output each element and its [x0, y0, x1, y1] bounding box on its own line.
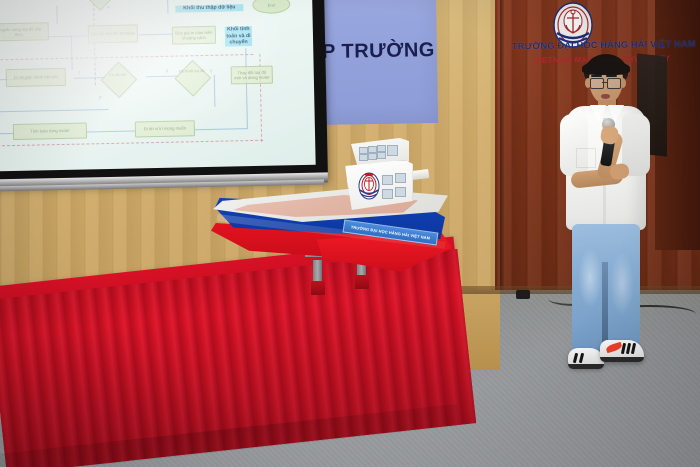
ship-window	[377, 145, 386, 152]
person-hair-fringe	[582, 61, 630, 75]
flowchart-decision-shape	[100, 61, 137, 98]
flow-false-label: F	[166, 69, 169, 74]
projection-screen-surface: Có tín hiệu GPS F Chuyển sang toạ độ tiế…	[0, 0, 316, 172]
ship-window	[395, 187, 406, 197]
presenter-person	[546, 52, 666, 392]
ship-window	[359, 147, 368, 154]
flow-connector	[56, 6, 57, 24]
ship-window	[368, 153, 377, 160]
eyeglasses-bridge-icon	[602, 82, 607, 83]
flow-region-boundary	[0, 140, 263, 147]
flow-true-label: T	[78, 71, 81, 76]
jeans-fade-right	[610, 252, 634, 316]
ship-model: TRƯỜNG ĐẠI HỌC HÀNG HẢI VIỆT NAM	[205, 150, 470, 290]
ship-emblem-icon	[357, 171, 381, 201]
flow-true-label: T	[210, 69, 213, 74]
floor-connector	[516, 290, 530, 299]
flow-connector	[0, 109, 108, 112]
ship-window	[382, 175, 393, 185]
ship-window	[387, 145, 398, 156]
person-eyebrow-right	[606, 75, 617, 77]
flow-region-boundary	[0, 54, 253, 61]
ship-window	[368, 146, 377, 153]
flowchart-box: Chuyển sang toạ độ tiếp theo	[0, 22, 49, 41]
eyeglasses-right-lens-icon	[607, 78, 621, 89]
flow-highlight-label: Khối thu thập dữ liệu	[175, 4, 243, 12]
flow-connector	[167, 0, 168, 14]
person-shoe-sole-left	[568, 364, 604, 369]
flowchart-box: Tính toán từng motor	[13, 122, 87, 140]
flow-connector	[245, 48, 248, 129]
eyeglasses-left-lens-icon	[590, 78, 604, 89]
jeans-fade-left	[578, 248, 602, 308]
ship-window	[377, 152, 386, 159]
flow-false-label: F	[107, 5, 110, 10]
ship-stand-base	[311, 281, 325, 295]
flow-highlight-label: Khối tính toán và di chuyển	[225, 26, 252, 47]
flow-false-label: F	[99, 95, 102, 100]
banner-title-text: P TRƯỜNG	[322, 39, 440, 64]
flow-connector	[214, 75, 216, 107]
flowchart-box: Thay đổi toạ độ mới và dừng motor	[231, 66, 273, 85]
person-shoe-sole-right	[600, 357, 644, 362]
ship-window	[359, 154, 368, 161]
flow-connector	[61, 35, 89, 37]
flowchart-box: Đọc giá trị cảm biến khoảng cách	[172, 26, 216, 45]
person-mouth	[601, 94, 610, 99]
presentation-scene: P TRƯỜNG	[0, 0, 700, 467]
flowchart-box: Di chuyển tránh vật cản	[6, 68, 66, 87]
wall-seam-divider	[500, 0, 504, 300]
flow-connector	[139, 34, 173, 36]
ship-window	[395, 173, 406, 183]
ship-window	[382, 189, 393, 199]
ship-stand-base	[355, 275, 369, 289]
flow-connector	[71, 36, 73, 70]
flowchart-box: Gửi dữ liệu lên firebase	[88, 24, 138, 43]
flowchart-end-terminator: End	[252, 0, 290, 14]
flow-connector	[0, 133, 13, 134]
flow-connector	[146, 76, 178, 78]
flowchart-decision-shape	[80, 0, 120, 11]
flowchart-decision-shape	[174, 60, 211, 97]
flow-connector	[87, 130, 135, 132]
person-shirt-pocket	[576, 148, 596, 168]
flowchart-box: Đi tới vị trí mong muốn	[135, 120, 195, 137]
person-eyebrow-left	[591, 75, 602, 77]
flow-connector	[195, 128, 247, 130]
